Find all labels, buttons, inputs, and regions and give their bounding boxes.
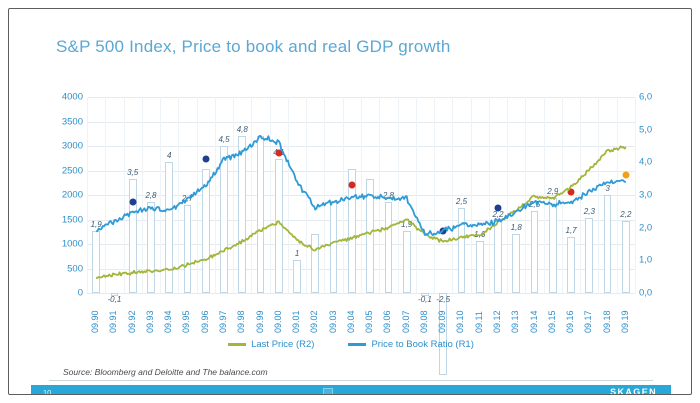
x-axis-tick: 09.18 — [602, 310, 612, 333]
x-axis-tick: 09.97 — [218, 310, 228, 333]
left-axis-tick: 1000 — [62, 239, 83, 250]
x-axis-tick: 09.94 — [163, 310, 173, 333]
footer-placeholder-icon — [323, 388, 333, 395]
gridline-vertical — [635, 97, 636, 293]
right-axis-labels: 0,01,02,03,04,05,06,0 — [639, 97, 671, 293]
legend-label: Last Price (R2) — [251, 339, 314, 350]
left-axis-tick: 500 — [67, 263, 83, 274]
right-axis-tick: 4,0 — [639, 157, 652, 168]
x-axis-tick: 09.01 — [291, 310, 301, 333]
left-axis-tick: 2500 — [62, 165, 83, 176]
left-axis-tick: 1500 — [62, 214, 83, 225]
right-axis-tick: 3,0 — [639, 190, 652, 201]
legend-swatch — [348, 343, 366, 346]
footer-bar: 10 SKAGEN — [31, 385, 671, 395]
x-axis-tick: 09.16 — [565, 310, 575, 333]
left-axis-tick: 4000 — [62, 92, 83, 103]
page-title: S&P 500 Index, Price to book and real GD… — [56, 37, 451, 57]
divider — [49, 380, 653, 381]
x-axis-tick: 09.00 — [273, 310, 283, 333]
x-axis-tick: 09.93 — [145, 310, 155, 333]
left-axis-tick: 3000 — [62, 141, 83, 152]
x-axis-tick: 09.95 — [181, 310, 191, 333]
x-axis-tick: 09.12 — [492, 310, 502, 333]
x-axis-tick: 09.15 — [547, 310, 557, 333]
chart-legend: Last Price (R2)Price to Book Ratio (R1) — [9, 339, 692, 350]
x-axis-tick: 09.99 — [255, 310, 265, 333]
left-axis-tick: 3500 — [62, 116, 83, 127]
right-axis-tick: 2,0 — [639, 222, 652, 233]
right-axis-tick: 6,0 — [639, 92, 652, 103]
series-line-last-price — [96, 146, 626, 278]
x-axis-tick: 09.90 — [90, 310, 100, 333]
x-axis-tick: 09.10 — [455, 310, 465, 333]
x-axis-tick: 09.17 — [583, 310, 593, 333]
x-axis-tick: 09.02 — [309, 310, 319, 333]
x-axis-tick: 09.07 — [401, 310, 411, 333]
source-note: Source: Bloomberg and Deloitte and The b… — [63, 367, 268, 377]
slide-canvas: S&P 500 Index, Price to book and real GD… — [8, 8, 692, 395]
x-axis-labels: 09.9009.9109.9209.9309.9409.9509.9609.97… — [87, 297, 635, 333]
gridline — [87, 293, 635, 294]
left-axis-labels: 05001000150020002500300035004000 — [49, 97, 83, 293]
x-axis-tick: 09.92 — [127, 310, 137, 333]
x-axis-tick: 09.91 — [108, 310, 118, 333]
x-axis-tick: 09.19 — [620, 310, 630, 333]
left-axis-tick: 0 — [78, 288, 83, 299]
x-axis-tick: 09.11 — [474, 311, 484, 333]
x-axis-tick: 09.08 — [419, 310, 429, 333]
legend-swatch — [228, 343, 246, 346]
series-line-price-to-book — [96, 136, 626, 235]
legend-item[interactable]: Last Price (R2) — [228, 339, 314, 350]
x-axis-tick: 09.04 — [346, 310, 356, 333]
x-axis-tick: 09.09 — [437, 310, 447, 333]
left-axis-tick: 2000 — [62, 190, 83, 201]
legend-label: Price to Book Ratio (R1) — [371, 339, 473, 350]
x-axis-tick: 09.05 — [364, 310, 374, 333]
page-number: 10 — [43, 388, 51, 395]
legend-item[interactable]: Price to Book Ratio (R1) — [348, 339, 473, 350]
right-axis-tick: 1,0 — [639, 255, 652, 266]
x-axis-tick: 09.13 — [510, 310, 520, 333]
x-axis-tick: 09.96 — [200, 310, 210, 333]
x-axis-tick: 09.06 — [382, 310, 392, 333]
x-axis-tick: 09.98 — [236, 310, 246, 333]
x-axis-tick: 09.03 — [328, 310, 338, 333]
right-axis-tick: 5,0 — [639, 124, 652, 135]
series-layer — [87, 97, 635, 293]
brand-logo: SKAGEN — [610, 387, 657, 395]
right-axis-tick: 0,0 — [639, 288, 652, 299]
x-axis-tick: 09.14 — [529, 310, 539, 333]
